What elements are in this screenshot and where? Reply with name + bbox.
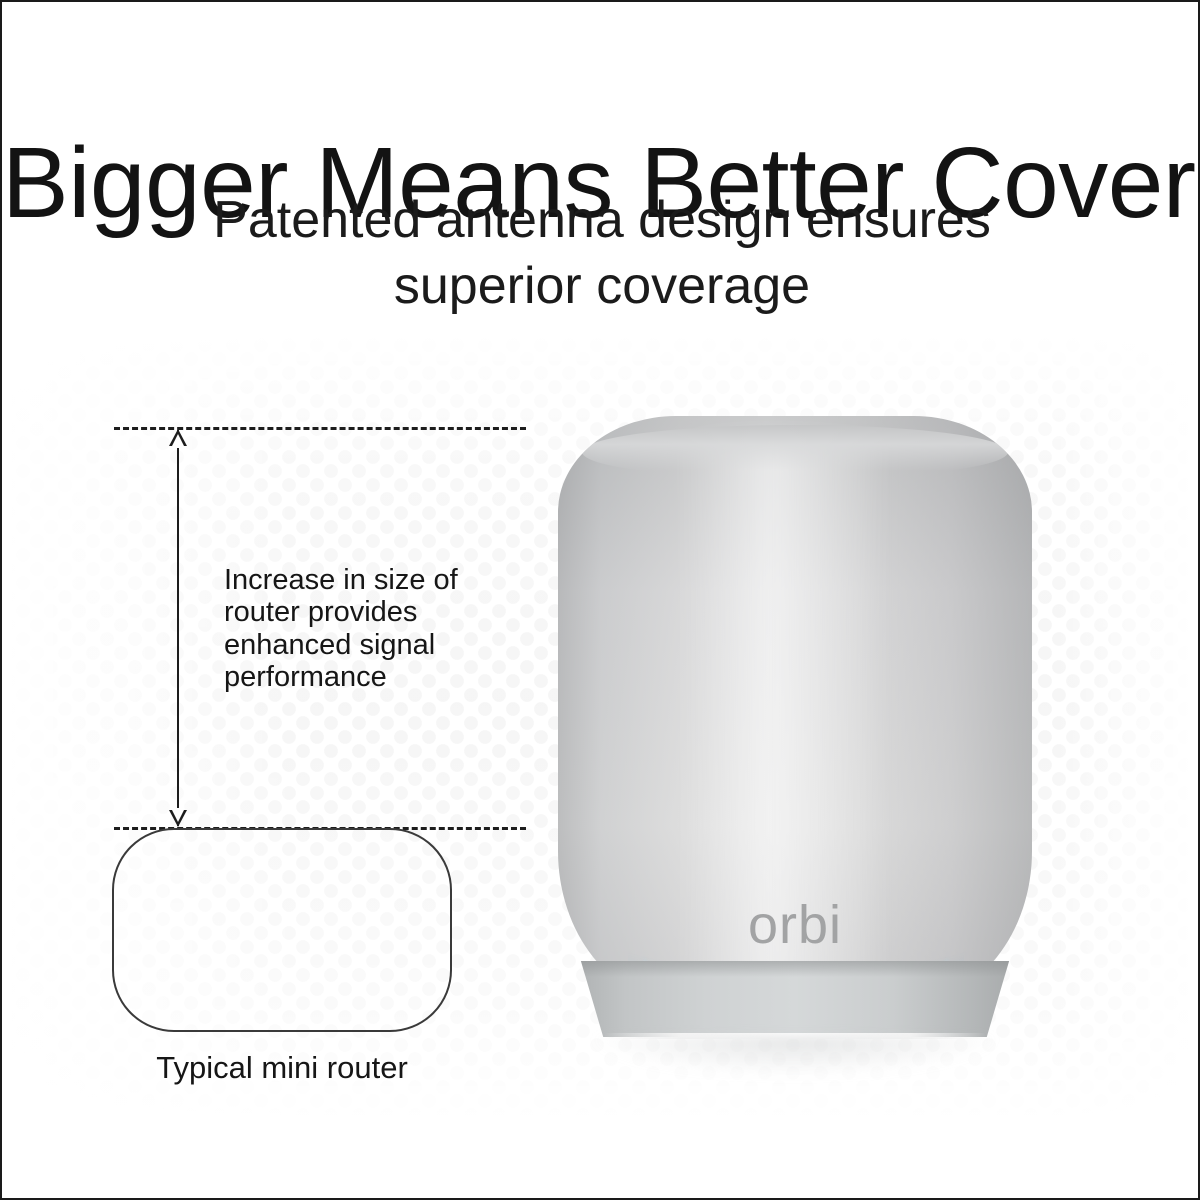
arrow-up-icon (169, 429, 187, 446)
subheading-line-2: superior coverage (2, 253, 1200, 319)
arrow-down-icon (169, 810, 187, 827)
callout-line-4: performance (224, 661, 474, 693)
subheading-line-1: Patented antenna design ensures (2, 187, 1200, 253)
size-callout-text: Increase in size of router provides enha… (224, 564, 474, 694)
orbi-router-product-image: orbi (550, 416, 1040, 1041)
callout-line-3: enhanced signal (224, 629, 474, 661)
router-top-seam (582, 425, 1008, 479)
product-feature-graphic: Bigger Means Better Coverage Patented an… (0, 0, 1200, 1200)
router-reflection (594, 1036, 996, 1076)
callout-line-1: Increase in size of (224, 564, 474, 596)
subheading: Patented antenna design ensures superior… (2, 187, 1200, 319)
mini-router-caption: Typical mini router (62, 1050, 502, 1086)
router-base-shadow (572, 961, 1018, 977)
mini-router-outline (112, 828, 452, 1032)
dimension-arrow (177, 430, 179, 826)
callout-line-2: router provides (224, 596, 474, 628)
